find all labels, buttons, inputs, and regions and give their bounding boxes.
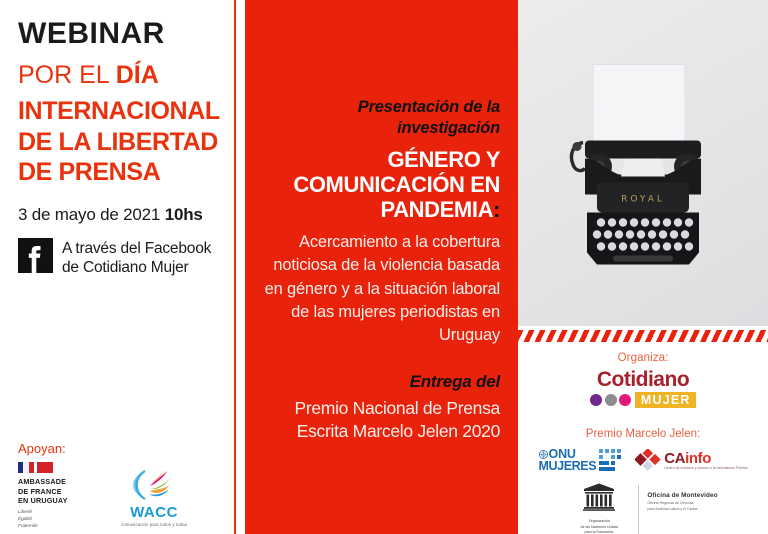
left-red-divider — [234, 0, 236, 534]
premio-jelen-label: Premio Marcelo Jelen: — [518, 428, 768, 440]
unesco-temple-icon — [582, 483, 616, 511]
unesco-logo: Organización de las Naciones Unidas para… — [518, 483, 768, 534]
subtitle-line-one: POR EL DÍA — [18, 60, 225, 91]
dia-text: DÍA — [116, 61, 159, 89]
title-colon: : — [493, 197, 500, 222]
marianne-flag-icon — [37, 462, 53, 473]
cainfo-ca: CA — [664, 450, 685, 467]
france-motto: Liberté Égalité Fraternité — [18, 509, 100, 530]
typewriter-photo: ROYAL — [518, 0, 768, 326]
france-line-2: DE FRANCE — [18, 487, 62, 496]
motto-liberte: Liberté — [18, 509, 32, 514]
cotidiano-mujer-logo: Cotidiano MUJER — [590, 369, 695, 408]
onu-mujeres-logo: ONU MUJERES — [539, 448, 622, 473]
facebook-row: A través del Facebook de Cotidiano Mujer — [18, 238, 225, 277]
unesco-office-subtitle: Oficina Regional de Ciencias para Améric… — [647, 501, 717, 512]
ambassade-de-france-logo: AMBASSADE DE FRANCE EN URUGUAY Liberté É… — [18, 462, 100, 530]
research-title-text: GÉNERO Y COMUNICACIÓN EN PANDEMIA — [293, 147, 500, 222]
organiza-label: Organiza: — [530, 352, 756, 364]
entrega-label: Entrega del — [259, 372, 500, 392]
por-el-text: POR EL — [18, 61, 116, 89]
unesco-sub-1: Organización — [589, 519, 610, 523]
wacc-logo: WACC comunicación para todos y todas — [112, 465, 196, 527]
france-logo-name: AMBASSADE DE FRANCE EN URUGUAY — [18, 477, 100, 506]
french-flag-icons — [18, 462, 100, 473]
cainfo-diamonds-icon — [635, 449, 661, 471]
stripe-divider — [518, 330, 768, 342]
partner-logos-row: ONU MUJERES — [518, 448, 768, 473]
un-emblem-icon — [539, 450, 548, 459]
event-date: 3 de mayo de 2021 10hs — [18, 205, 225, 225]
unesco-office-sub-1: Oficina Regional de Ciencias — [647, 501, 693, 505]
mujer-wordmark: MUJER — [635, 392, 696, 408]
dot-purple-icon — [590, 394, 602, 406]
unesco-emblem-block: Organización de las Naciones Unidas para… — [568, 483, 630, 534]
date-text: 3 de mayo de 2021 — [18, 205, 165, 224]
unesco-divider — [638, 485, 639, 534]
research-description: Acercamiento a la cobertura noticiosa de… — [259, 231, 500, 348]
onu-mosaic-icon — [599, 449, 621, 471]
right-column: ROYAL — [518, 0, 768, 534]
left-panel: WEBINAR POR EL DÍA INTERNACIONAL DE LA L… — [0, 0, 237, 534]
presentacion-label: Presentación de la investigación — [259, 97, 500, 139]
premio-nacional-name: Premio Nacional de Prensa Escrita Marcel… — [259, 397, 500, 443]
unesco-subtitle: Organización de las Naciones Unidas para… — [568, 519, 630, 534]
cotidiano-wordmark: Cotidiano — [590, 369, 695, 390]
france-line-1: AMBASSADE — [18, 477, 66, 486]
cainfo-info: info — [685, 450, 711, 467]
subtitle-line-two: INTERNACIONAL DE LA LIBERTAD DE PRENSA — [18, 96, 225, 188]
unesco-office-block: Oficina de Montevideo Oficina Regional d… — [647, 483, 717, 512]
dot-magenta-icon — [619, 394, 631, 406]
cainfo-logo: CAinfo Centro de Archivos y Acceso a la … — [635, 449, 747, 471]
french-flag-icon — [18, 462, 34, 473]
unesco-office-name: Oficina de Montevideo — [647, 492, 717, 499]
onu-text: ONU MUJERES — [539, 448, 597, 473]
facebook-line-1: A través del Facebook — [62, 240, 211, 257]
wacc-wordmark: WACC — [112, 504, 196, 521]
unesco-sub-3: para la Educación, — [584, 530, 614, 534]
date-time: 10hs — [165, 205, 203, 224]
motto-fraternite: Fraternité — [18, 523, 38, 528]
wacc-tagline: comunicación para todos y todas — [112, 522, 196, 527]
poster-root: WEBINAR POR EL DÍA INTERNACIONAL DE LA L… — [0, 0, 768, 534]
france-line-3: EN URUGUAY — [18, 496, 68, 505]
research-title: GÉNERO Y COMUNICACIÓN EN PANDEMIA: — [259, 147, 500, 222]
wacc-mark-icon — [131, 465, 177, 505]
cainfo-text: CAinfo Centro de Archivos y Acceso a la … — [664, 451, 747, 470]
supporters-section: Apoyan: AMBASSADE DE FRANCE EN URUGUAY L… — [18, 441, 223, 530]
facebook-icon — [18, 238, 53, 273]
unesco-sub-2: de las Naciones Unidas — [580, 525, 618, 529]
svg-text:ROYAL: ROYAL — [621, 194, 665, 204]
dot-gray-icon — [605, 394, 617, 406]
motto-egalite: Égalité — [18, 516, 32, 521]
cainfo-wordmark: CAinfo — [664, 451, 747, 466]
facebook-line-2: de Cotidiano Mujer — [62, 259, 189, 276]
onu-line-2: MUJERES — [539, 460, 597, 472]
cotidiano-mark-row: MUJER — [590, 392, 695, 408]
organiza-section: Organiza: Cotidiano MUJER — [518, 352, 768, 411]
cainfo-tagline: Centro de Archivos y Acceso a la Informa… — [664, 467, 747, 470]
apoyan-label: Apoyan: — [18, 441, 223, 456]
webinar-heading: WEBINAR — [18, 18, 225, 50]
supporter-logos: AMBASSADE DE FRANCE EN URUGUAY Liberté É… — [18, 462, 223, 530]
unesco-office-sub-2: para América Latina y el Caribe — [647, 507, 697, 511]
facebook-text: A través del Facebook de Cotidiano Mujer — [62, 238, 211, 277]
center-red-panel: Presentación de la investigación GÉNERO … — [245, 0, 518, 534]
